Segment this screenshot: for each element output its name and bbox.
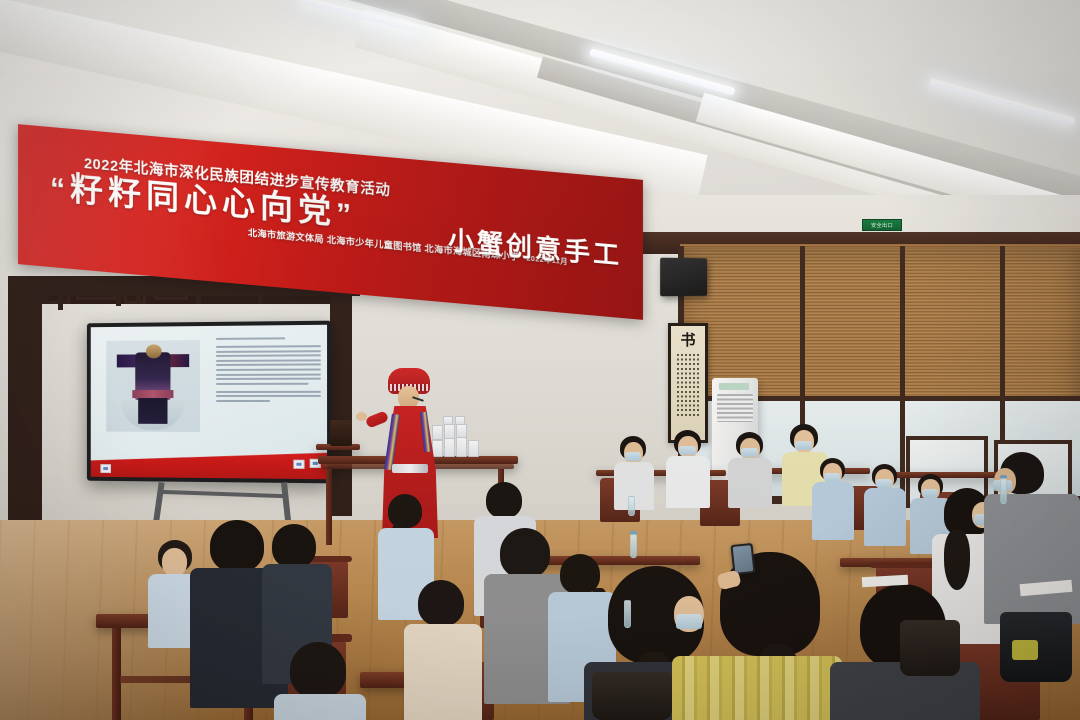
slide-text-block	[216, 337, 321, 408]
slide-image	[106, 340, 200, 432]
side-table-object	[330, 420, 352, 446]
water-bottle	[624, 600, 631, 628]
front-desk-leg	[112, 628, 121, 720]
quote-close: ”	[336, 197, 356, 232]
display-box	[444, 424, 455, 439]
slide-red-ribbon	[91, 451, 327, 479]
display-box	[443, 416, 453, 425]
display-box	[468, 440, 479, 457]
lattice-post-right	[330, 276, 352, 516]
costume-illustration	[117, 344, 189, 424]
banner-title-text: 籽籽同心心向党	[70, 171, 336, 232]
banner-main-title: “ 籽籽同心心向党 ”	[50, 169, 356, 233]
display-box	[456, 424, 467, 438]
display-box	[444, 438, 455, 457]
slide-surface	[91, 325, 327, 479]
photo-scene: 安全出口 书 2022年北海市深化民族团结进步宣传教育活动 “ 籽籽同心心向党 …	[0, 0, 1080, 720]
presenter-hand	[356, 412, 367, 421]
scroll-character: 书	[680, 333, 695, 348]
calligraphy-scroll: 书	[668, 323, 708, 443]
presenter-belt	[392, 464, 428, 473]
water-bottle	[628, 496, 635, 516]
ceiling-light-tube-3	[929, 78, 1076, 126]
quote-open: “	[50, 172, 70, 207]
water-bottle	[1000, 478, 1007, 504]
water-bottle	[630, 534, 637, 558]
handbag	[900, 620, 960, 676]
banner-line1: 2022年北海市深化民族团结进步宣传教育活动	[84, 152, 390, 200]
display-box	[456, 437, 467, 457]
water-bottle-cap	[630, 531, 637, 534]
exit-sign-label: 安全出口	[871, 222, 893, 229]
display-box	[455, 416, 465, 425]
presentation-display[interactable]	[87, 321, 331, 484]
backpack-logo	[1012, 640, 1038, 660]
bag	[592, 672, 672, 720]
water-bottle-cap	[1000, 475, 1007, 478]
exit-sign: 安全出口	[862, 219, 902, 231]
chair-crest-rail	[870, 562, 940, 568]
presenter-table-leg-1	[326, 469, 332, 545]
